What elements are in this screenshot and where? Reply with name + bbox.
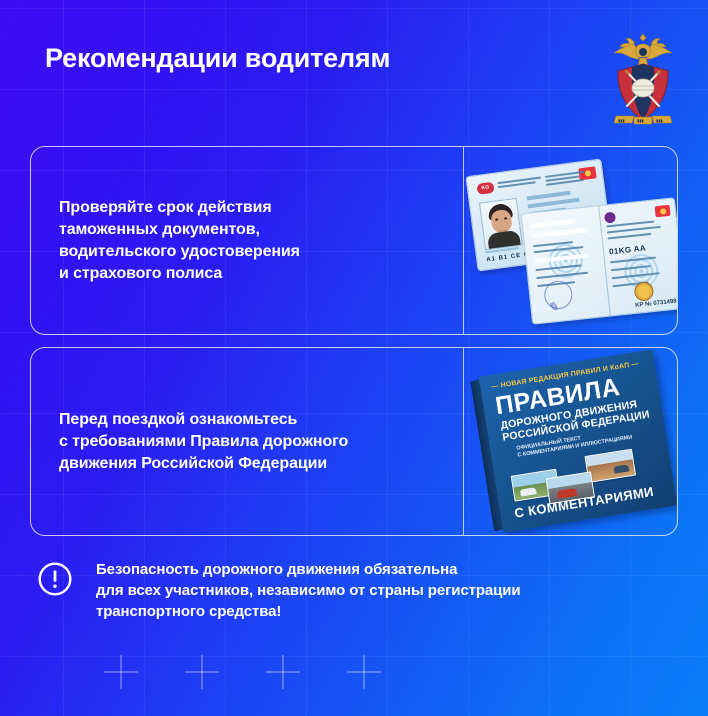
footer-note: Безопасность дорожного движения обязател…: [0, 552, 708, 647]
card-text-traffic-rules: Перед поездкой ознакомьтесь с требования…: [59, 409, 451, 475]
card-text-documents: Проверяйте срок действия таможенных доку…: [59, 197, 451, 285]
card-text-line: с требованиями Правила дорожного: [59, 431, 451, 453]
exclamation-circle-icon: [38, 562, 72, 596]
recommendation-card-documents: Проверяйте срок действия таможенных доку…: [30, 146, 678, 335]
vehicle-registration-card: 01KG AA ✎ KP № 0731498: [521, 197, 677, 325]
page-title: Рекомендации водителям: [45, 43, 390, 74]
signature-mark: ✎: [547, 299, 560, 316]
card-text-line: Проверяйте срок действия: [59, 197, 451, 219]
card-text-line: таможенных документов,: [59, 219, 451, 241]
svg-text:▮▮▮: ▮▮▮: [656, 118, 663, 123]
footer-text-line: Безопасность дорожного движения обязател…: [96, 559, 521, 580]
card-text-line: движения Российской Федерации: [59, 453, 451, 475]
header: Рекомендации водителям: [0, 0, 708, 140]
licence-country-badge: KG: [476, 182, 494, 195]
book-cover: — НОВАЯ РЕДАКЦИЯ ПРАВИЛ И КоАП — ПРАВИЛА…: [479, 349, 677, 533]
kyrgyzstan-flag-icon: [655, 205, 671, 218]
svg-text:▮▮▮: ▮▮▮: [637, 118, 644, 123]
footer-text: Безопасность дорожного движения обязател…: [96, 559, 521, 622]
footer-text-line: транспортного средства!: [96, 601, 521, 622]
svg-text:▮▮▮: ▮▮▮: [618, 118, 625, 123]
driver-licence-and-registration-photo: KG A1 B1 CE C1E: [464, 147, 677, 334]
card-text-line: и страхового полиса: [59, 263, 451, 285]
licence-portrait-photo: [479, 198, 523, 251]
mvd-police-emblem-icon: ▮▮▮ ▮▮▮ ▮▮▮: [604, 28, 682, 132]
card-text-line: Перед поездкой ознакомьтесь: [59, 409, 451, 431]
book-photo-thumb: [584, 449, 636, 483]
footer-text-line: для всех участников, независимо от стран…: [96, 580, 521, 601]
pdd-book: — НОВАЯ РЕДАКЦИЯ ПРАВИЛ И КоАП — ПРАВИЛА…: [479, 349, 677, 533]
traffic-rules-book-photo: — НОВАЯ РЕДАКЦИЯ ПРАВИЛ И КоАП — ПРАВИЛА…: [464, 348, 677, 535]
registration-emblem-icon: [604, 212, 616, 224]
recommendation-card-traffic-rules: Перед поездкой ознакомьтесь с требования…: [30, 347, 678, 536]
card-text-line: водительского удостоверения: [59, 241, 451, 263]
